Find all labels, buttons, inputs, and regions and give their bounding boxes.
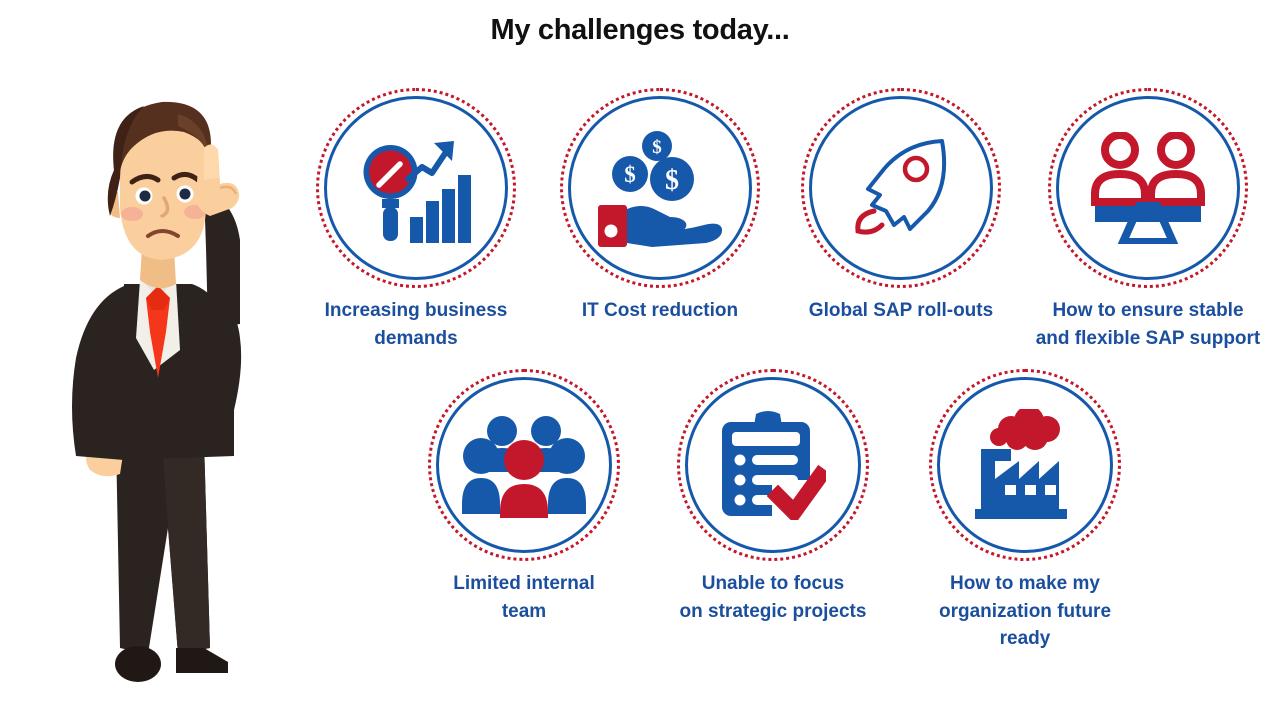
magnifier-bar-chart-growth-icon — [356, 129, 476, 247]
svg-text:$: $ — [624, 162, 636, 187]
challenges-grid: Increasing business demands $ $ $ — [290, 88, 1280, 688]
badge-it-cost-reduction: $ $ $ — [560, 88, 760, 288]
businessman-svg — [28, 88, 288, 688]
rocket-icon — [846, 133, 956, 243]
challenge-it-cost-reduction[interactable]: $ $ $ IT Cost reduction — [547, 88, 773, 325]
challenge-label: Increasing business demands — [303, 297, 529, 352]
factory-smoke-icon — [967, 409, 1083, 521]
challenge-label: How to make my organization future ready — [906, 570, 1144, 653]
challenge-stable-flexible-sap-support[interactable]: How to ensure stable and flexible SAP su… — [1017, 88, 1279, 352]
hand-holding-coins-icon: $ $ $ — [596, 129, 724, 247]
badge-limited-internal-team — [428, 369, 620, 561]
page-title: My challenges today... — [0, 14, 1280, 47]
challenge-global-sap-roll-outs[interactable]: Global SAP roll-outs — [788, 88, 1014, 325]
challenge-label: How to ensure stable and flexible SAP su… — [1017, 297, 1279, 352]
challenge-label: Unable to focus on strategic projects — [653, 570, 893, 625]
badge-organization-future-ready — [929, 369, 1121, 561]
badge-unable-to-focus-on-strategic-projects — [677, 369, 869, 561]
challenge-label: Global SAP roll-outs — [788, 297, 1014, 325]
people-on-balance-scale-icon — [1089, 132, 1207, 244]
challenge-label: Limited internal team — [415, 570, 633, 625]
slide-canvas: My challenges today... — [0, 0, 1280, 720]
challenge-increasing-business-demands[interactable]: Increasing business demands — [303, 88, 529, 352]
badge-increasing-business-demands — [316, 88, 516, 288]
group-of-people-icon — [462, 412, 586, 518]
businessman-thinking-illustration — [28, 88, 288, 688]
challenge-organization-future-ready[interactable]: How to make my organization future ready — [906, 369, 1144, 653]
badge-stable-flexible-sap-support — [1048, 88, 1248, 288]
badge-global-sap-roll-outs — [801, 88, 1001, 288]
svg-text:$: $ — [665, 165, 679, 196]
clipboard-checkmark-icon — [720, 410, 826, 520]
challenge-unable-to-focus-on-strategic-projects[interactable]: Unable to focus on strategic projects — [653, 369, 893, 625]
svg-text:$: $ — [652, 137, 662, 158]
challenge-label: IT Cost reduction — [547, 297, 773, 325]
challenge-limited-internal-team[interactable]: Limited internal team — [415, 369, 633, 625]
